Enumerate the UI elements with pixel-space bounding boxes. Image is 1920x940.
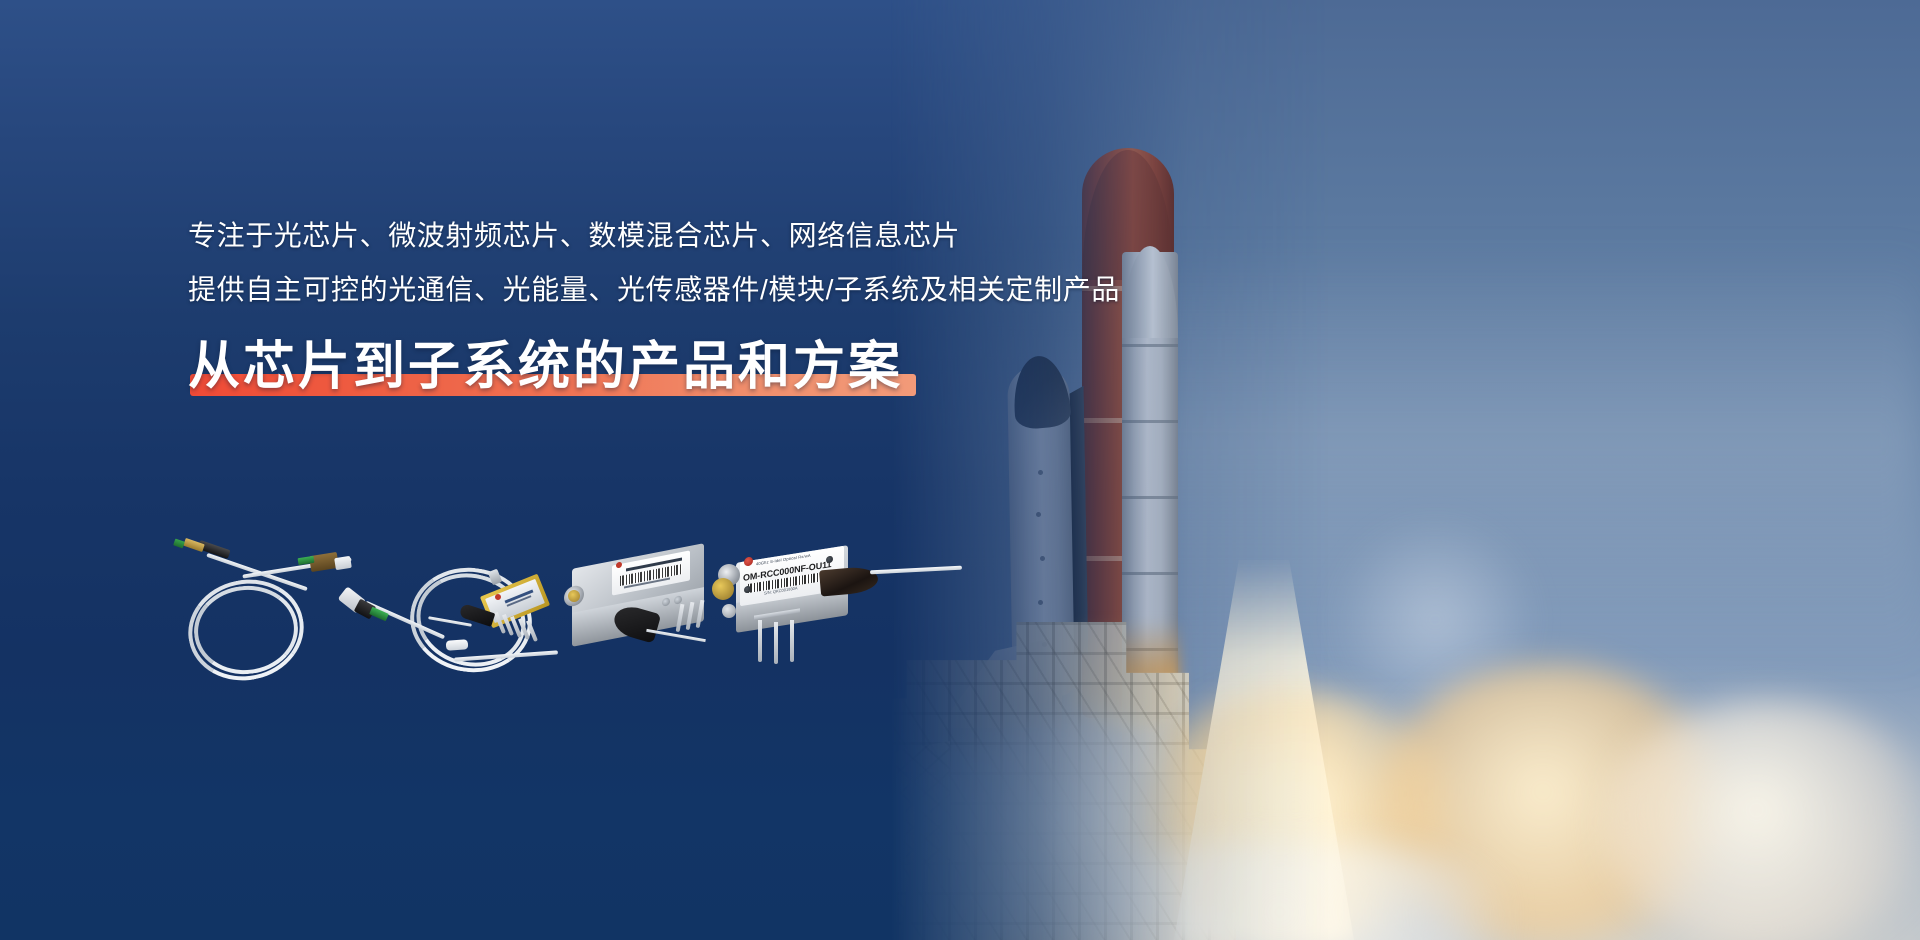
srb-segment-joint: [1122, 572, 1178, 575]
hero-banner: 专注于光芯片、微波射频芯片、数模混合芯片、网络信息芯片 提供自主可控的光通信、光…: [0, 0, 1920, 940]
receiver-pin: [758, 620, 762, 662]
banner-headline: 从芯片到子系统的产品和方案: [188, 336, 903, 398]
sma-center-pin: [568, 590, 580, 602]
receiver-port: [722, 604, 736, 618]
orbiter-marking: [1038, 470, 1043, 475]
sma-connector-gold: [712, 578, 734, 600]
banner-copy: 专注于光芯片、微波射频芯片、数模混合芯片、网络信息芯片 提供自主可控的光通信、光…: [188, 214, 1188, 404]
product-rf-metal-module: [550, 542, 730, 672]
banner-headline-group: 从芯片到子系统的产品和方案: [188, 336, 903, 404]
pigtail-fiber: [870, 566, 962, 575]
product-image-row: 40Ghz S-Idel Optical Rx/wA OM-RCC000NF-O…: [180, 520, 1060, 700]
receiver-pin: [790, 620, 794, 662]
thermistor-lead: [488, 569, 503, 586]
banner-subtitle-line-1: 专注于光芯片、微波射频芯片、数模混合芯片、网络信息芯片: [188, 214, 1188, 258]
srb-segment-joint: [1122, 496, 1178, 499]
space-shuttle-launch-photo: [770, 0, 1920, 940]
fiber-connector-tip: [173, 539, 185, 549]
srb-segment-joint: [1122, 420, 1178, 423]
orbiter-marking: [1036, 512, 1041, 517]
banner-subtitle-line-2: 提供自主可控的光通信、光能量、光传感器件/模块/子系统及相关定制产品: [188, 268, 1188, 312]
product-optical-receiver-module: 40Ghz S-Idel Optical Rx/wA OM-RCC000NF-O…: [710, 538, 960, 678]
receiver-pin: [774, 622, 778, 664]
